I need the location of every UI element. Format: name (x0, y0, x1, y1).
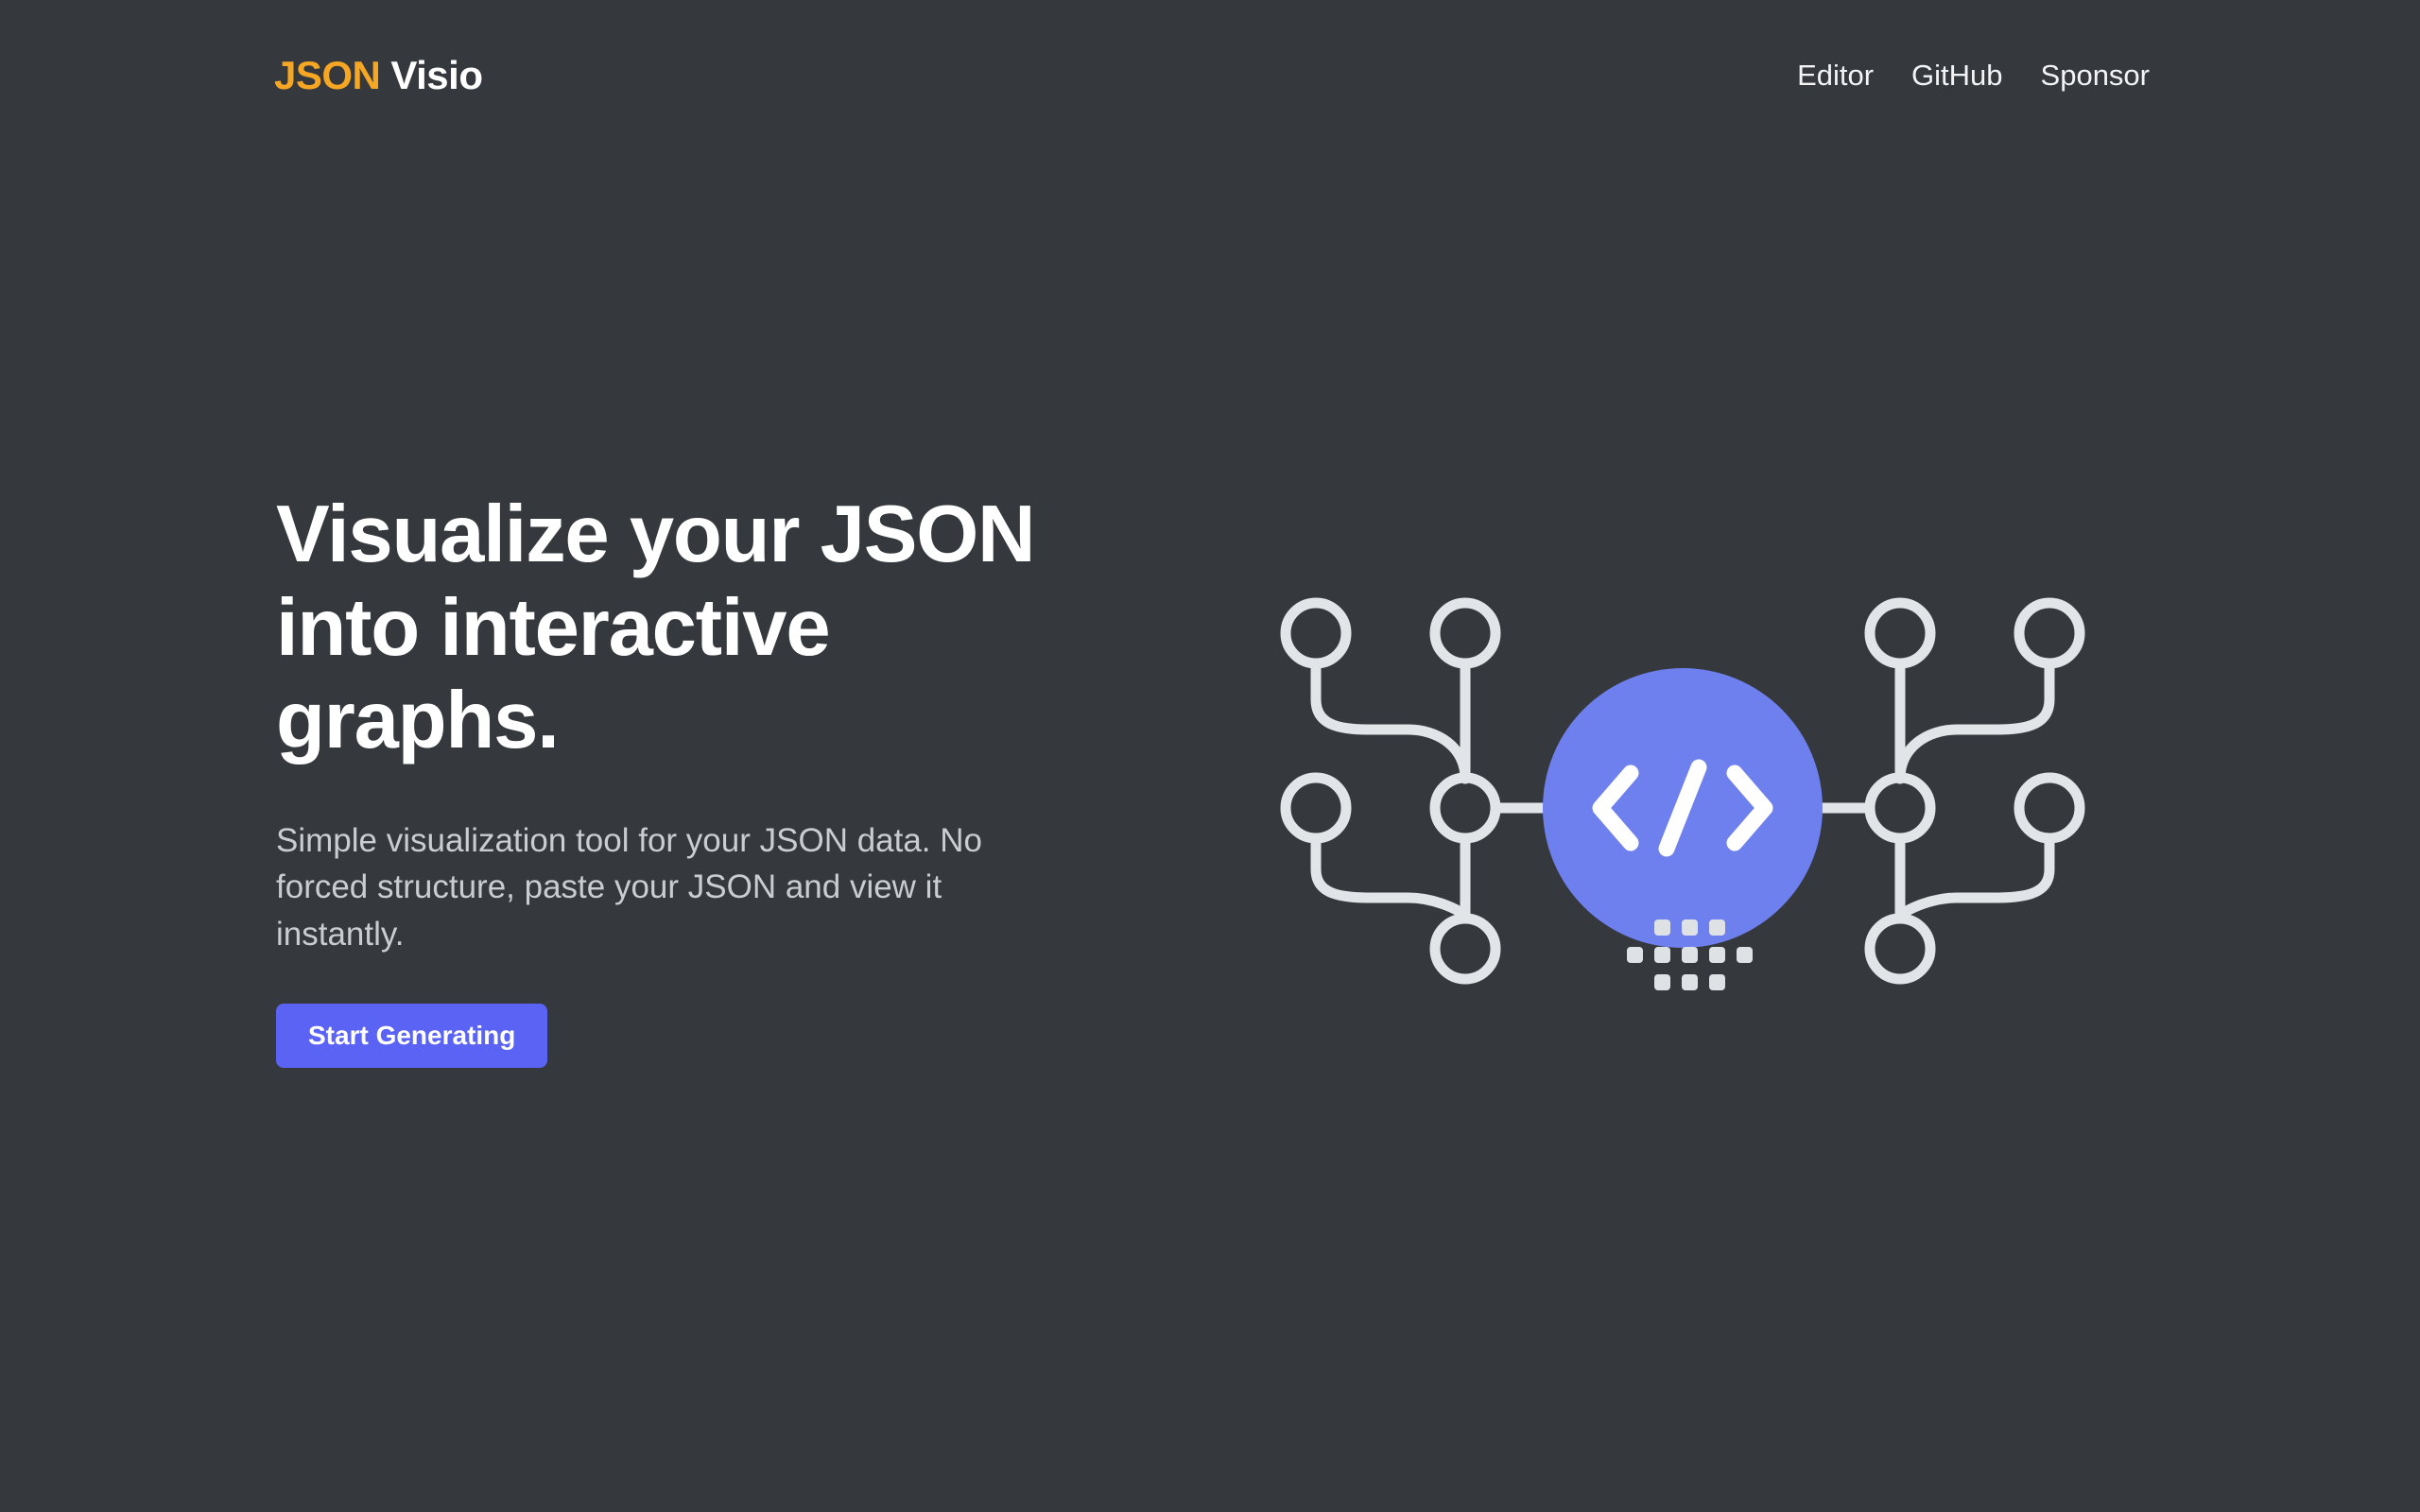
primary-navigation: Editor GitHub Sponsor (1797, 59, 2150, 93)
hero-text-block: Visualize your JSON into interactive gra… (276, 489, 1127, 1068)
logo-text-visio: Visio (390, 53, 482, 97)
graph-node (2019, 603, 2080, 663)
nav-link-github[interactable]: GitHub (1911, 59, 2002, 93)
hero-headline: Visualize your JSON into interactive gra… (276, 489, 1127, 768)
graph-node (1435, 603, 1495, 663)
graph-node (1435, 919, 1495, 979)
nav-link-editor[interactable]: Editor (1797, 59, 1874, 93)
nav-link-sponsor[interactable]: Sponsor (2041, 59, 2150, 93)
graph-node (1870, 778, 1930, 838)
graph-node (1870, 919, 1930, 979)
page-root: JSONVisio Editor GitHub Sponsor Visualiz… (0, 0, 2420, 1512)
hero-subtitle: Simple visualization tool for your JSON … (276, 817, 1051, 958)
hero-illustration (1229, 548, 2136, 1021)
graph-node (1870, 603, 1930, 663)
site-logo[interactable]: JSONVisio (274, 56, 482, 95)
graph-node (1286, 778, 1346, 838)
json-graph-illustration (1229, 548, 2136, 1021)
site-header: JSONVisio Editor GitHub Sponsor (0, 0, 2420, 151)
hero-section: Visualize your JSON into interactive gra… (0, 151, 2420, 1512)
start-generating-button[interactable]: Start Generating (276, 1004, 547, 1068)
logo-text-json: JSON (274, 53, 380, 97)
graph-node (2019, 778, 2080, 838)
graph-node (1286, 603, 1346, 663)
graph-node (1435, 778, 1495, 838)
